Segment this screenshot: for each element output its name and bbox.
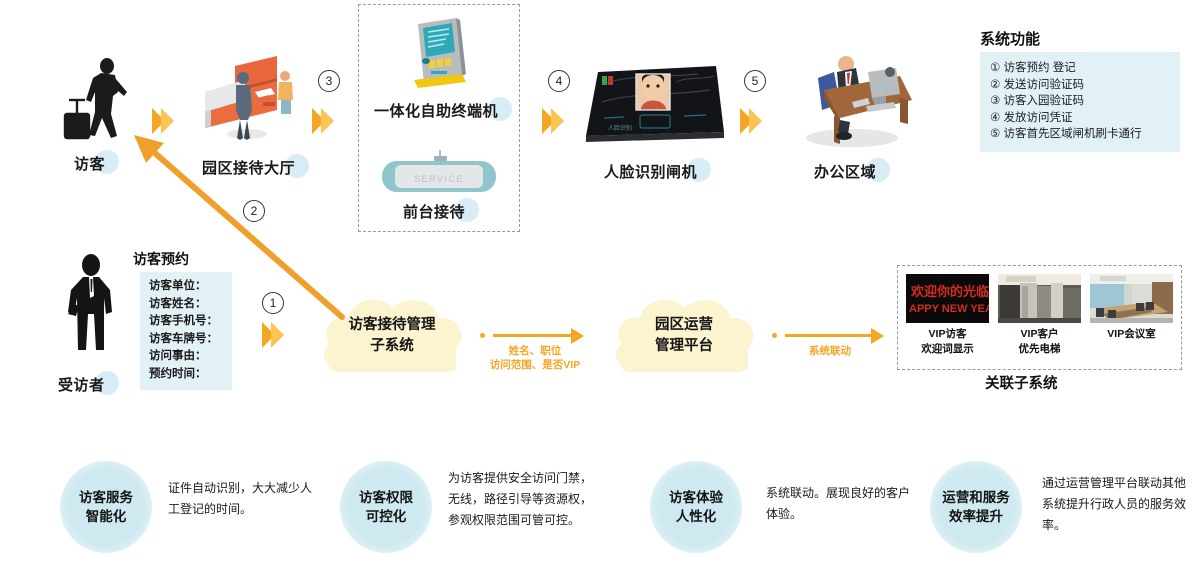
vip-caption-line1: VIP会议室: [1090, 327, 1173, 342]
data-flow-arrow-2-caption: 系统联动: [775, 344, 885, 358]
vip-card-welcome-caption: VIP访客 欢迎词显示: [906, 327, 989, 357]
step-marker-1: 1: [262, 292, 284, 314]
office-desk-icon: [790, 50, 918, 152]
vip-card-meeting-caption: VIP会议室: [1090, 327, 1173, 342]
reservation-field-label: 访客车牌号：: [149, 331, 225, 349]
data-flow-arrow-2: [785, 334, 875, 337]
platform-label-line2: 管理平台: [608, 336, 760, 357]
step-marker-5: 5: [744, 70, 766, 92]
node-label-kiosk: 一体化自助终端机: [374, 100, 498, 121]
vip-card-elevator-caption: VIP客户 优先电梯: [998, 327, 1081, 357]
face-recognition-gate-icon: 人脸识别: [578, 62, 730, 144]
return-flow-arrow: [120, 125, 350, 325]
feature-circle-access-control[interactable]: 访客权限 可控化: [340, 461, 432, 553]
vip-card-elevator[interactable]: VIP客户 优先电梯: [998, 274, 1081, 357]
feature-text-access-control: 为访客提供安全访问门禁，无线，路径引导等资源权，参观权限范围可管可控。: [448, 468, 596, 531]
meeting-room-image: [1090, 274, 1173, 323]
node-label-front-desk: 前台接待: [403, 201, 465, 222]
vip-card-welcome[interactable]: 欢迎你的光临 APPY NEW YEAR VIP访客 欢迎词显示: [906, 274, 989, 357]
led-banner-cn-text: 欢迎你的光临: [910, 284, 989, 299]
reservation-field-label: 访问事由：: [149, 348, 225, 366]
led-welcome-screen-image: 欢迎你的光临 APPY NEW YEAR: [906, 274, 989, 323]
data-flow-arrow-1: [493, 334, 575, 337]
feature-title-line2: 效率提升: [942, 507, 1010, 526]
feature-title-line1: 访客体验: [669, 488, 723, 507]
data-flow-arrow-1-caption: 姓名、职位 访问范围、是否VIP: [480, 344, 590, 372]
reservation-field-label: 预约时间：: [149, 366, 225, 384]
flow-chevron-2: [312, 108, 330, 134]
vip-caption-line2: 欢迎词显示: [906, 342, 989, 357]
feature-text-experience: 系统联动。展现良好的客户体验。: [766, 483, 912, 525]
system-function-item: ② 发送访问验证码: [990, 77, 1170, 94]
elevator-lobby-image: [998, 274, 1081, 323]
system-functions-panel: ① 访客预约 登记 ② 发送访问验证码 ③ 访客入园验证码 ④ 发放访问凭证 ⑤…: [980, 52, 1180, 152]
feature-title-line2: 可控化: [359, 507, 413, 526]
self-service-kiosk-icon: [404, 14, 476, 92]
related-subsystems-label: 关联子系统: [985, 372, 1058, 393]
node-label-face-gate: 人脸识别闸机: [604, 161, 697, 182]
vip-caption-line1: VIP访客: [906, 327, 989, 342]
feature-text-efficiency: 通过运营管理平台联动其他系统提升行政人员的服务效率。: [1042, 473, 1190, 536]
feature-title-line2: 人性化: [669, 507, 723, 526]
platform-label-line1: 园区运营: [608, 315, 760, 336]
feature-title-line1: 访客权限: [359, 488, 413, 507]
feature-circle-experience[interactable]: 访客体验 人性化: [650, 461, 742, 553]
feature-circle-efficiency[interactable]: 运营和服务 效率提升: [930, 461, 1022, 553]
system-function-item: ④ 发放访问凭证: [990, 110, 1170, 127]
svg-text:SERVICE: SERVICE: [414, 174, 464, 184]
infographic-canvas: 访客 园区接待大厅 3: [0, 0, 1202, 581]
led-banner-en-text: APPY NEW YEAR: [909, 303, 989, 315]
node-label-office-area: 办公区域: [814, 161, 876, 182]
system-function-item: ① 访客预约 登记: [990, 60, 1170, 77]
flow-chevron-4: [740, 108, 758, 134]
related-subsystems-panel: 欢迎你的光临 APPY NEW YEAR VIP访客 欢迎词显示: [897, 265, 1182, 370]
arrow1-caption-line2: 访问范围、是否VIP: [480, 358, 590, 372]
flow-chevron-1: [152, 108, 170, 134]
system-function-item: ③ 访客入园验证码: [990, 93, 1170, 110]
front-desk-icon: SERVICE: [378, 150, 500, 198]
flow-chevron-5: [262, 322, 280, 348]
feature-text-smart-service: 证件自动识别，大大减少人工登记的时间。: [168, 478, 316, 520]
subsystem-label-line2: 子系统: [316, 336, 468, 357]
vip-caption-line2: 优先电梯: [998, 342, 1081, 357]
vip-caption-line1: VIP客户: [998, 327, 1081, 342]
step-marker-2: 2: [243, 200, 265, 222]
feature-circle-smart-service[interactable]: 访客服务 智能化: [60, 461, 152, 553]
node-label-visitor: 访客: [74, 153, 105, 174]
arrow1-caption-line1: 姓名、职位: [480, 344, 590, 358]
interviewee-silhouette-icon: [52, 252, 130, 357]
system-function-item: ⑤ 访客首先区域闸机刷卡通行: [990, 126, 1170, 143]
flow-chevron-3: [542, 108, 560, 134]
node-label-reception-hall: 园区接待大厅: [202, 157, 295, 178]
node-label-interviewee: 受访者: [58, 374, 105, 395]
feature-title-line1: 运营和服务: [942, 488, 1010, 507]
platform-cloud-label: 园区运营 管理平台: [608, 315, 760, 357]
step-marker-4: 4: [548, 70, 570, 92]
feature-title-line2: 智能化: [79, 507, 133, 526]
feature-title-line1: 访客服务: [79, 488, 133, 507]
vip-card-meeting-room[interactable]: VIP会议室: [1090, 274, 1173, 342]
step-marker-3: 3: [318, 70, 340, 92]
svg-text:人脸识别: 人脸识别: [608, 124, 632, 132]
system-functions-title: 系统功能: [980, 28, 1040, 49]
